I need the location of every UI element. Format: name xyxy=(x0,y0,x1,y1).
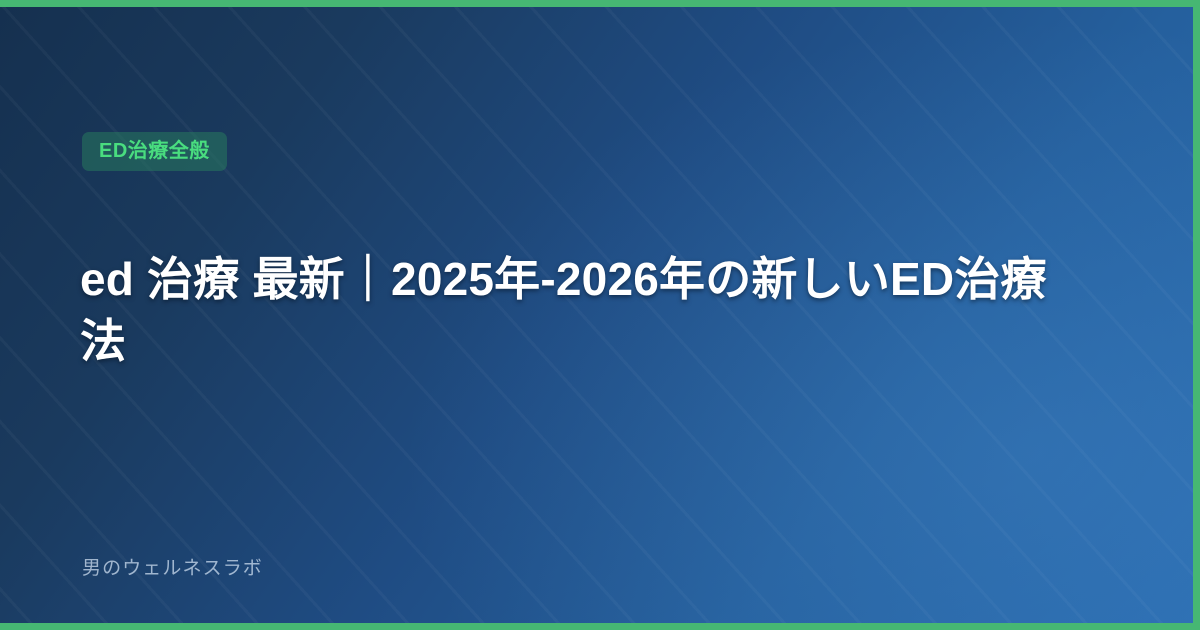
site-name-label: 男のウェルネスラボ xyxy=(82,558,263,581)
card-content: ED治療全般 ed 治療 最新｜2025年-2026年の新しいED治療法 男のウ… xyxy=(0,0,1200,630)
accent-bar-bottom xyxy=(0,623,1200,630)
category-badge: ED治療全般 xyxy=(82,132,227,171)
accent-bar-right xyxy=(1193,0,1200,630)
og-card: ED治療全般 ed 治療 最新｜2025年-2026年の新しいED治療法 男のウ… xyxy=(0,0,1200,630)
accent-bar-top xyxy=(0,0,1200,7)
page-title: ed 治療 最新｜2025年-2026年の新しいED治療法 xyxy=(80,248,1090,372)
